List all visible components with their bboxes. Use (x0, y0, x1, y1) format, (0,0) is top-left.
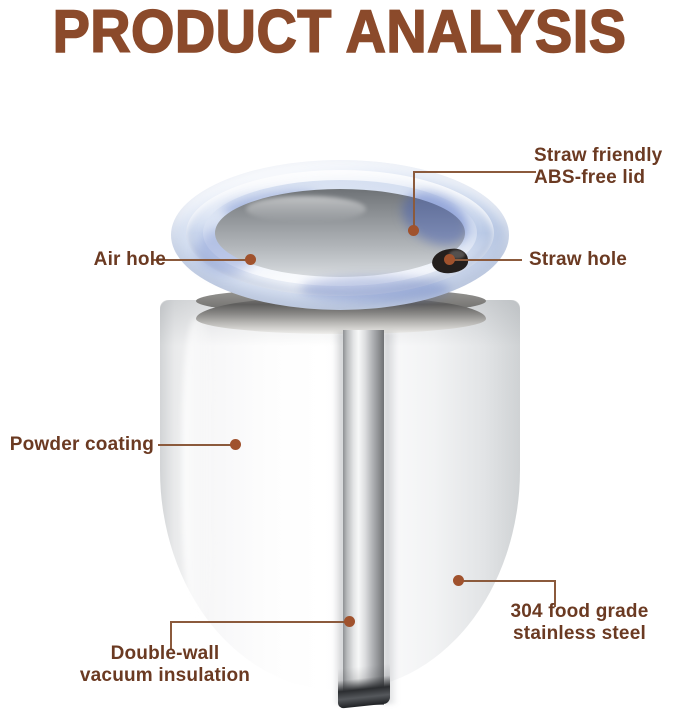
leader-line-straw-friendly-lid-horizontal (413, 171, 536, 173)
straw-shadow-right (384, 332, 398, 704)
callout-label-air-hole: Air hole (76, 249, 166, 271)
lid-slide-cover-highlight (246, 196, 366, 222)
product-analysis-infographic: PRODUCT ANALYSIS Straw friendly ABS-free… (0, 0, 679, 709)
callout-dot-air-hole (245, 254, 256, 265)
leader-line-double-wall-horizontal (170, 621, 349, 623)
callout-dot-straw-hole (444, 254, 455, 265)
callout-dot-stainless-steel (453, 575, 464, 586)
straw-bottom-end (338, 663, 390, 708)
callout-label-straw-hole: Straw hole (529, 249, 669, 271)
callout-label-stainless-steel: 304 food grade stainless steel (482, 601, 677, 645)
leader-line-stainless-steel-horizontal (462, 580, 556, 582)
stainless-straw (343, 330, 384, 705)
callout-dot-straw-friendly-lid (408, 225, 419, 236)
callout-label-double-wall: Double-wall vacuum insulation (60, 643, 270, 687)
lid-reflection-d (300, 276, 450, 302)
leader-line-powder-coating (158, 444, 236, 446)
callout-label-straw-friendly-lid: Straw friendly ABS-free lid (534, 145, 679, 189)
tumbler-body-highlight (182, 318, 216, 618)
leader-line-air-hole (153, 259, 249, 261)
leader-line-straw-friendly-lid-vertical (413, 171, 415, 229)
callout-label-powder-coating: Powder coating (2, 434, 154, 456)
callout-dot-powder-coating (230, 439, 241, 450)
leader-line-straw-hole (454, 259, 522, 261)
callout-dot-double-wall (344, 616, 355, 627)
